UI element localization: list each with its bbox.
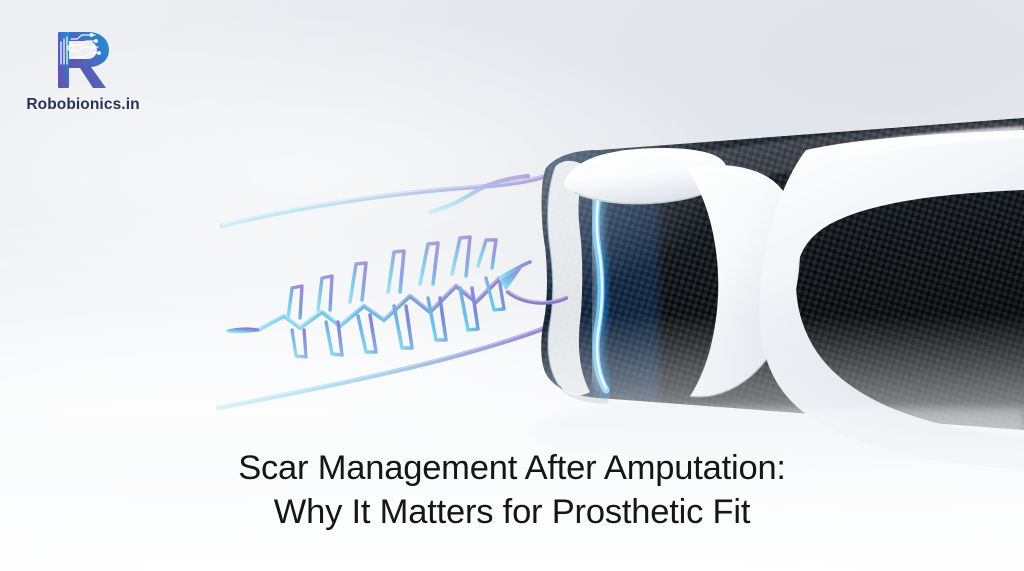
brand-name: Robobionics.in [18,96,148,114]
page-title-line-2: Why It Matters for Prosthetic Fit [0,490,1024,534]
brand-logo[interactable]: Robobionics.in [18,26,178,114]
page-title-line-1: Scar Management After Amputation: [0,446,1024,490]
hero-banner: Robobionics.in Scar Management After Amp… [0,0,1024,571]
page-title: Scar Management After Amputation: Why It… [0,446,1024,534]
robobionics-circuit-r-logo-icon [48,26,120,92]
